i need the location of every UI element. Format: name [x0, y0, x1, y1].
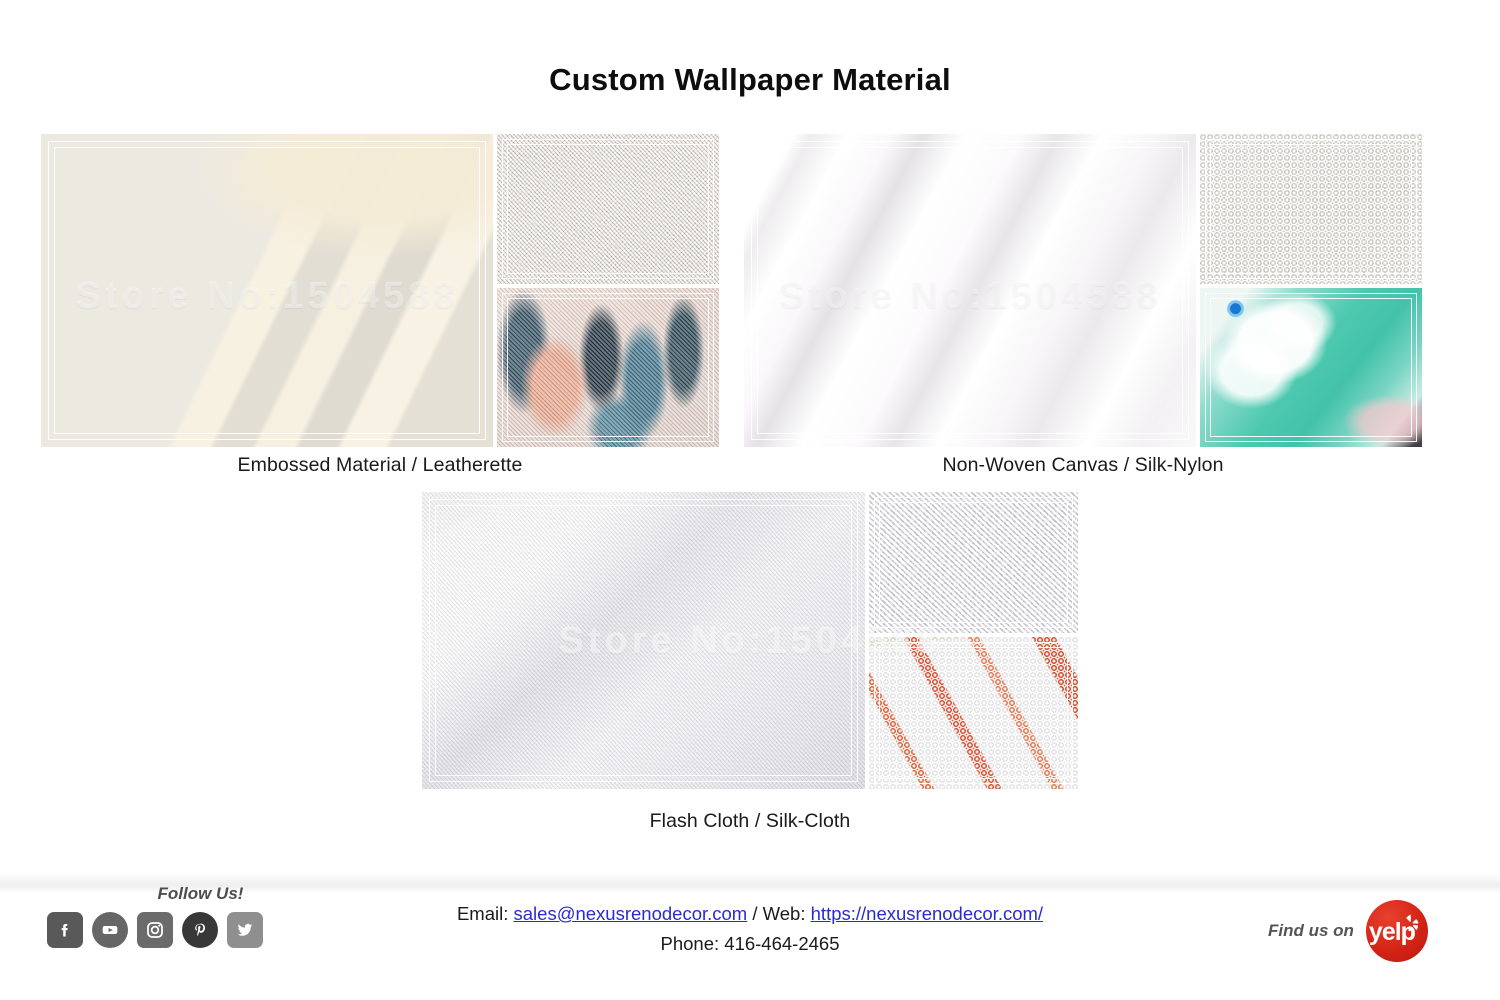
slide-canvas: Custom Wallpaper Material Store No:15045… [0, 0, 1500, 1000]
social-links-row [47, 912, 297, 948]
image-inset-frame [422, 492, 865, 789]
yelp-section[interactable]: Find us on yelp [1268, 900, 1428, 962]
image-inset-frame [744, 134, 1196, 447]
follow-us-label: Follow Us! [103, 884, 298, 904]
yelp-logo[interactable]: yelp [1366, 900, 1428, 962]
web-label: Web: [763, 903, 806, 924]
product-media-non-woven: Store No:1504588 [744, 134, 1422, 447]
image-inset-frame [497, 134, 719, 284]
product-media-embossed: Store No:1504588 [41, 134, 719, 447]
thumbnail-column-embossed [497, 134, 719, 447]
image-inset-frame [1200, 134, 1422, 284]
product-block-non-woven: Store No:1504588 [744, 134, 1422, 447]
website-link[interactable]: https://nexusrenodecor.com/ [811, 903, 1043, 924]
thumbnail-column-flash-cloth [869, 492, 1078, 789]
twitter-icon[interactable] [227, 912, 263, 948]
main-image-silk-drape[interactable]: Store No:1504588 [744, 134, 1196, 447]
watermark-text: Store No:1504588 [744, 275, 1196, 318]
sub-image-embossed-texture[interactable] [497, 134, 719, 284]
main-image-flash-cloth[interactable] [422, 492, 865, 789]
sub-image-floral-print[interactable] [1200, 288, 1422, 447]
image-inset-frame [869, 637, 1078, 789]
sub-image-embossed-print[interactable] [497, 288, 719, 447]
sub-image-flash-texture[interactable] [869, 492, 1078, 633]
youtube-icon[interactable] [92, 912, 128, 948]
follow-us-section: Follow Us! [47, 884, 297, 948]
contact-divider: / [747, 903, 762, 924]
facebook-icon[interactable] [47, 912, 83, 948]
image-inset-frame [497, 288, 719, 447]
product-block-embossed: Store No:1504588 [41, 134, 719, 447]
image-inset-frame [869, 492, 1078, 633]
email-link[interactable]: sales@nexusrenodecor.com [514, 903, 748, 924]
caption-non-woven: Non-Woven Canvas / Silk-Nylon [744, 454, 1422, 477]
sub-image-canvas-weave[interactable] [1200, 134, 1422, 284]
sub-image-orange-stripe-print[interactable] [869, 637, 1078, 789]
main-image-embossed-roll[interactable]: Store No:1504588 [41, 134, 493, 447]
caption-embossed: Embossed Material / Leatherette [41, 454, 719, 477]
image-inset-frame [1200, 288, 1422, 447]
image-inset-frame [41, 134, 493, 447]
caption-flash-cloth: Flash Cloth / Silk-Cloth [422, 810, 1078, 833]
yelp-burst-icon [1400, 913, 1420, 933]
contact-phone-line: Phone: 416-464-2465 [330, 933, 1170, 955]
page-title: Custom Wallpaper Material [0, 62, 1500, 98]
product-block-flash-cloth: Store No:1504588 [422, 492, 1078, 789]
phone-number: 416-464-2465 [724, 933, 839, 954]
phone-label: Phone: [661, 933, 720, 954]
find-us-on-label: Find us on [1268, 921, 1354, 941]
instagram-icon[interactable] [137, 912, 173, 948]
email-label: Email: [457, 903, 508, 924]
thumbnail-column-non-woven [1200, 134, 1422, 447]
product-media-flash-cloth [422, 492, 1078, 789]
watermark-text: Store No:1504588 [41, 275, 493, 318]
pinterest-icon[interactable] [182, 912, 218, 948]
contact-email-web-line: Email: sales@nexusrenodecor.com / Web: h… [330, 903, 1170, 925]
contact-info: Email: sales@nexusrenodecor.com / Web: h… [330, 903, 1170, 955]
